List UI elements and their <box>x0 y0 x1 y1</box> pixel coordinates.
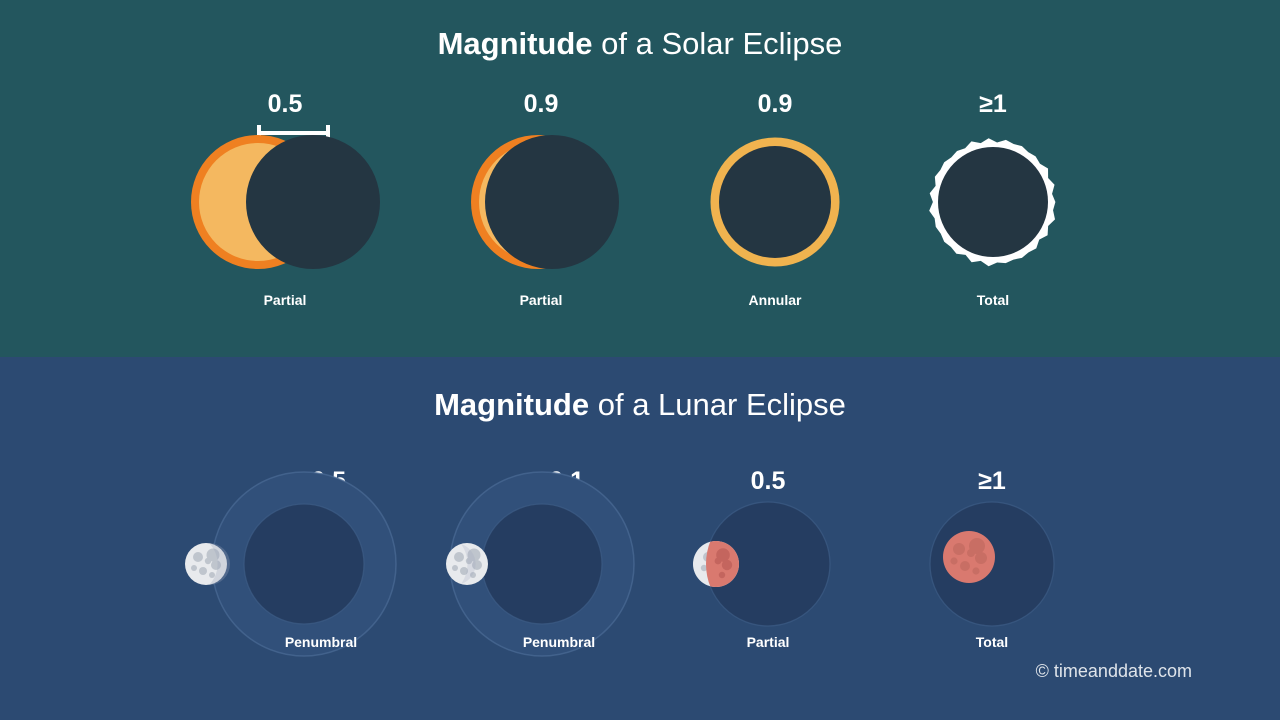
lunar-eclipse-section: Magnitude of a Lunar Eclipse - 0.5 <box>0 357 1280 720</box>
infographic-canvas: Magnitude of a Solar Eclipse 0.5 Partial… <box>0 0 1280 720</box>
lunar-caption: Penumbral <box>211 635 431 649</box>
moon-icon <box>943 531 995 583</box>
solar-diagram-total <box>893 112 1093 292</box>
moon-icon <box>185 543 230 585</box>
solar-caption: Total <box>893 293 1093 307</box>
lunar-item-penumbral-shallow: - 0.5 <box>193 469 413 669</box>
solar-diagram-annular <box>675 112 875 292</box>
lunar-item-partial: 0.5 <box>658 469 878 669</box>
lunar-title-strong: Magnitude <box>434 387 589 422</box>
solar-title-rest: of a Solar Eclipse <box>593 26 843 61</box>
footer-credit: © timeanddate.com <box>1036 662 1192 680</box>
solar-item-partial-deep: 0.9 Partial <box>441 92 641 307</box>
lunar-caption: Partial <box>658 635 878 649</box>
solar-title-strong: Magnitude <box>438 26 593 61</box>
lunar-title-rest: of a Lunar Eclipse <box>589 387 846 422</box>
moon-disc-icon <box>485 135 619 269</box>
moon-icon <box>693 541 739 587</box>
lunar-caption: Penumbral <box>449 635 669 649</box>
lunar-item-penumbral-deep: - 0.1 <box>431 469 651 669</box>
moon-disc-icon <box>719 146 831 258</box>
solar-diagram-partial-half <box>185 112 385 292</box>
solar-eclipse-section: Magnitude of a Solar Eclipse 0.5 Partial… <box>0 0 1280 357</box>
solar-caption: Partial <box>441 293 641 307</box>
lunar-item-total: ≥1 <box>882 469 1102 669</box>
moon-disc-icon <box>246 135 380 269</box>
solar-item-partial-half: 0.5 Partial <box>185 92 385 307</box>
solar-caption: Partial <box>185 293 385 307</box>
moon-disc-icon <box>938 147 1048 257</box>
solar-item-annular: 0.9 Annular <box>675 92 875 307</box>
solar-section-title: Magnitude of a Solar Eclipse <box>0 28 1280 59</box>
solar-caption: Annular <box>675 293 875 307</box>
solar-diagram-partial-deep <box>441 112 641 292</box>
moon-icon <box>446 543 488 585</box>
lunar-caption: Total <box>882 635 1102 649</box>
lunar-section-title: Magnitude of a Lunar Eclipse <box>0 389 1280 420</box>
solar-item-total: ≥1 Total <box>893 92 1093 307</box>
